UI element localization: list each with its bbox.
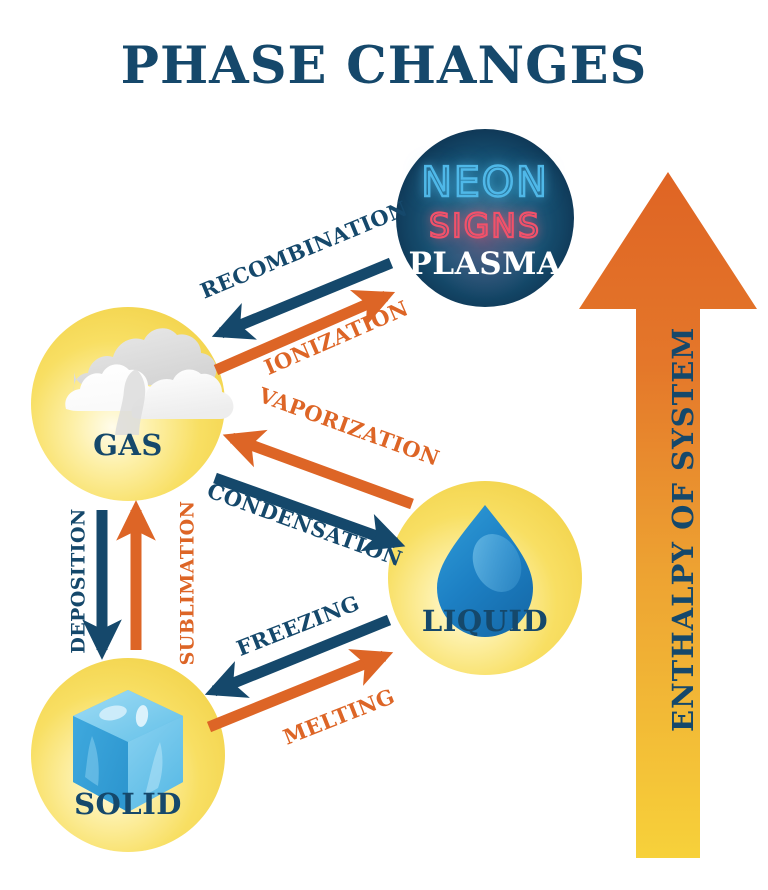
plasma-label: PLASMA xyxy=(396,246,574,282)
liquid-label: LIQUID xyxy=(405,604,565,638)
solid-circle[interactable] xyxy=(31,658,225,852)
solid-label: SOLID xyxy=(48,787,208,821)
neon-label: NEON xyxy=(396,158,574,206)
enthalpy-axis-label: ENTHALPY OF SYSTEM xyxy=(666,432,700,732)
signs-label: SIGNS xyxy=(396,206,574,245)
label-sublimation: SUBLIMATION xyxy=(176,501,198,666)
label-deposition: DEPOSITION xyxy=(68,508,90,653)
gas-label: GAS xyxy=(48,428,208,462)
diagram-canvas: PHASE CHANGES xyxy=(0,0,768,890)
gas-circle[interactable] xyxy=(31,307,233,501)
liquid-circle[interactable] xyxy=(388,481,582,675)
